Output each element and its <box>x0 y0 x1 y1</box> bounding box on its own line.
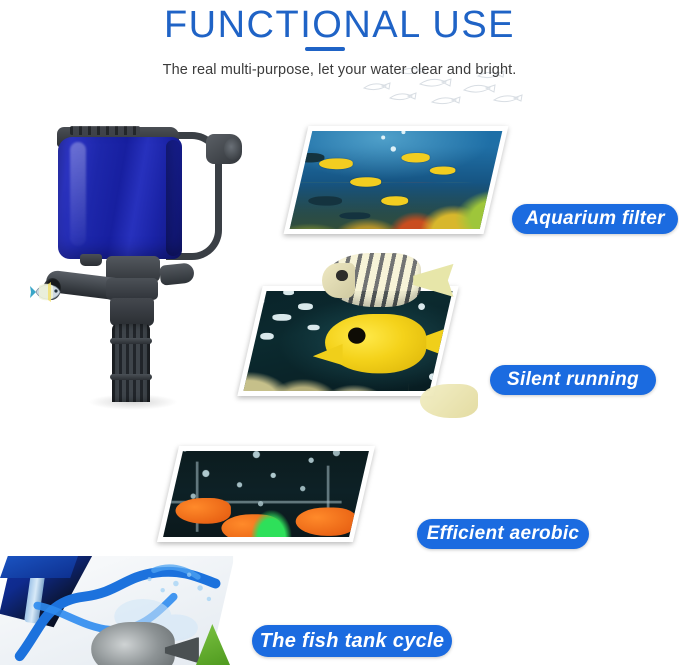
gray-pufferfish <box>91 622 174 665</box>
goldfish <box>296 508 356 536</box>
infographic-page: FUNCTIONAL USE The real multi-purpose, l… <box>0 0 679 665</box>
header: FUNCTIONAL USE The real multi-purpose, l… <box>0 0 679 110</box>
bubble <box>298 303 313 310</box>
bubble <box>391 146 396 151</box>
badge-efficient-aerobic[interactable]: Efficient aerobic <box>417 519 589 549</box>
badge-silent-running[interactable]: Silent running <box>490 365 656 395</box>
fish-eye <box>348 328 366 344</box>
small-yellow-fish-decor <box>420 384 478 418</box>
bubble <box>283 291 294 295</box>
blue-tang-fish-decor-icon <box>30 280 64 304</box>
strainer-band <box>110 338 152 344</box>
bubble <box>273 314 292 321</box>
aerobic-scene <box>163 451 369 537</box>
strainer-band <box>110 374 152 380</box>
side-port <box>159 262 195 285</box>
reef-scene <box>290 131 503 229</box>
blue-corner-accent <box>0 556 78 578</box>
fish <box>293 154 324 163</box>
bubble <box>448 322 452 326</box>
badge-fish-tank-cycle[interactable]: The fish tank cycle <box>252 625 452 657</box>
fish <box>381 196 409 205</box>
title-divider <box>305 47 345 51</box>
body-tab <box>80 254 102 266</box>
fish <box>309 196 342 205</box>
bubble-goldfish-photo <box>157 446 375 542</box>
goldfish <box>176 499 231 525</box>
body-shadow-edge <box>166 140 180 256</box>
strainer-cage <box>112 324 150 402</box>
bubble <box>401 131 405 134</box>
bubble <box>260 333 274 340</box>
fish <box>319 159 352 170</box>
body-highlight <box>70 142 86 246</box>
photo-inner <box>290 131 503 229</box>
bubble <box>308 325 320 330</box>
shaft <box>110 298 154 326</box>
page-title: FUNCTIONAL USE <box>0 4 679 46</box>
page-subtitle: The real multi-purpose, let your water c… <box>0 60 679 80</box>
green-plant <box>251 510 291 537</box>
photo-inner <box>163 451 369 537</box>
submersible-aquarium-pump-image <box>18 112 258 402</box>
fish-eye <box>336 270 347 281</box>
badge-aquarium-filter[interactable]: Aquarium filter <box>512 204 678 234</box>
fish <box>429 167 455 175</box>
shaft-collar <box>106 278 158 300</box>
outlet-cap <box>224 138 242 160</box>
bubble <box>428 373 435 380</box>
striped-butterflyfish-decor <box>325 248 451 314</box>
fish <box>350 177 381 186</box>
bubble <box>381 135 385 139</box>
coral-bed <box>290 183 503 229</box>
fish <box>340 212 371 220</box>
reef-aquarium-photo <box>284 126 509 234</box>
vent-slots <box>70 126 140 135</box>
